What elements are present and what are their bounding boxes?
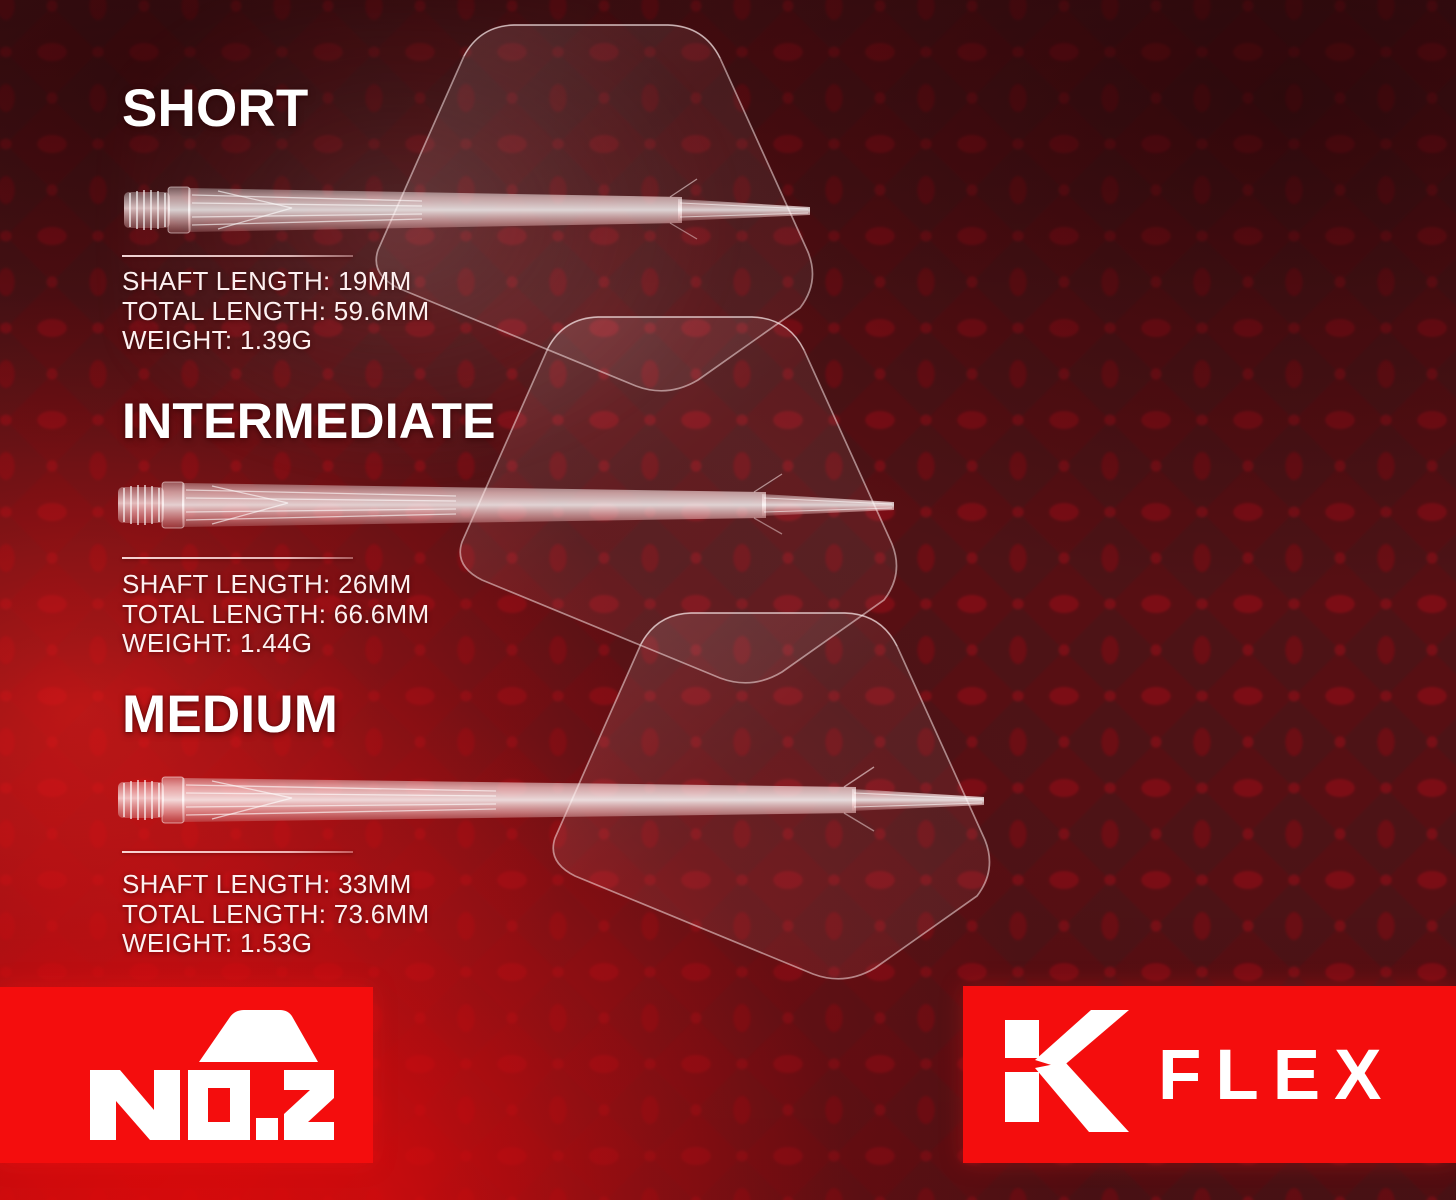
kflex-logo: FLEX bbox=[1005, 1012, 1415, 1134]
section-medium: MEDIUM bbox=[122, 688, 338, 741]
no2-logo bbox=[84, 1006, 336, 1146]
kflex-wordmark: FLEX bbox=[1158, 1040, 1395, 1111]
specs-medium: SHAFT LENGTH: 33MM TOTAL LENGTH: 73.6MM … bbox=[122, 870, 429, 959]
section-title-intermediate: INTERMEDIATE bbox=[122, 396, 496, 446]
spec-total-length-intermediate: TOTAL LENGTH: 66.6MM bbox=[122, 600, 429, 630]
divider-intermediate bbox=[122, 557, 353, 559]
spec-shaft-length-intermediate: SHAFT LENGTH: 26MM bbox=[122, 570, 429, 600]
infographic-stage: SHORT SHAFT LENGTH: 19MM TOTAL LENGTH: 5… bbox=[0, 0, 1456, 1200]
spec-shaft-length-short: SHAFT LENGTH: 19MM bbox=[122, 267, 429, 297]
section-intermediate: INTERMEDIATE bbox=[122, 396, 496, 446]
spec-total-length-medium: TOTAL LENGTH: 73.6MM bbox=[122, 900, 429, 930]
divider-medium bbox=[122, 851, 353, 853]
spec-total-length-short: TOTAL LENGTH: 59.6MM bbox=[122, 297, 429, 327]
divider-short bbox=[122, 255, 353, 257]
spec-shaft-length-medium: SHAFT LENGTH: 33MM bbox=[122, 870, 429, 900]
spec-weight-short: WEIGHT: 1.39G bbox=[122, 326, 429, 356]
spec-weight-medium: WEIGHT: 1.53G bbox=[122, 929, 429, 959]
section-title-short: SHORT bbox=[122, 82, 309, 135]
section-title-medium: MEDIUM bbox=[122, 688, 338, 741]
kflex-k-mark bbox=[1005, 1010, 1130, 1137]
specs-short: SHAFT LENGTH: 19MM TOTAL LENGTH: 59.6MM … bbox=[122, 267, 429, 356]
specs-intermediate: SHAFT LENGTH: 26MM TOTAL LENGTH: 66.6MM … bbox=[122, 570, 429, 659]
spec-weight-intermediate: WEIGHT: 1.44G bbox=[122, 629, 429, 659]
section-short: SHORT bbox=[122, 82, 309, 135]
